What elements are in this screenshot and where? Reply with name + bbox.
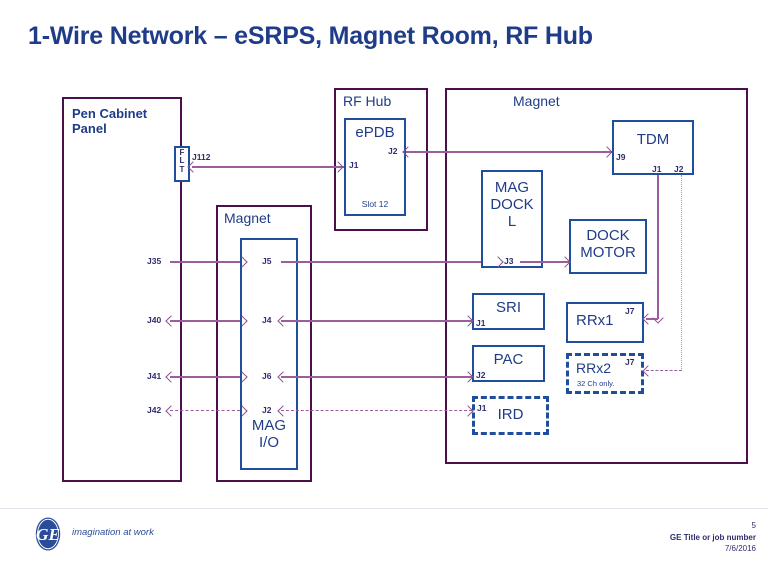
wire-magio-j2-to-ird-j1 — [281, 410, 472, 411]
mag-dock-l-title-line2: DOCK — [490, 196, 533, 213]
wire-j42-to-magio-j2 — [170, 410, 240, 411]
port-label-tdm-j1: J1 — [652, 164, 661, 174]
wire-j35-to-magio-j5 — [170, 261, 240, 263]
sri-title: SRI — [474, 300, 543, 317]
port-label-sri-j1: J1 — [476, 318, 485, 328]
port-label-magio-j6: J6 — [262, 371, 271, 381]
wire-tdm-j1-drop — [657, 175, 659, 319]
wire-magio-j4-to-sri-j1 — [281, 320, 472, 322]
port-label-magio-j5: J5 — [262, 256, 271, 266]
mag-dock-l-title-line3: L — [508, 213, 516, 230]
page-title: 1-Wire Network – eSRPS, Magnet Room, RF … — [28, 22, 593, 51]
port-label-j41: J41 — [147, 371, 161, 381]
wire-magio-j5-to-magdockl-j3 — [281, 261, 481, 263]
mag-io-title: MAG I/O — [242, 418, 296, 452]
port-label-epdb-j1: J1 — [349, 160, 358, 170]
svg-text:GE: GE — [36, 525, 60, 544]
rrx2-note: 32 Ch only. — [569, 379, 649, 388]
port-label-magio-j4: J4 — [262, 315, 271, 325]
magnet-right-label: Magnet — [513, 93, 560, 109]
pen-cabinet-panel-label-line2: Panel — [72, 121, 107, 136]
rrx2-title: RRx2 — [569, 361, 648, 377]
mag-io-title-line2: I/O — [259, 434, 279, 451]
flt-connector[interactable]: F L T — [174, 146, 190, 182]
footer-job-title: GE Title or job number — [670, 533, 756, 542]
footer-page-number: 5 — [752, 521, 756, 530]
dock-motor-title: DOCK MOTOR — [571, 228, 645, 262]
wire-magio-j6-to-pac-j2 — [281, 376, 472, 378]
port-label-j42: J42 — [147, 405, 161, 415]
port-label-rrx2-j7: J7 — [625, 357, 634, 367]
wire-j41-to-magio-j6 — [170, 376, 240, 378]
mag-dock-l-title: MAG DOCK L — [483, 180, 541, 230]
dock-motor-box[interactable]: DOCK MOTOR — [569, 219, 647, 274]
flt-line-3: T — [180, 165, 185, 174]
port-label-j40: J40 — [147, 315, 161, 325]
wire-j112-to-epdb-j1 — [192, 166, 344, 168]
port-label-ird-j1: J1 — [477, 403, 486, 413]
epdb-slot-label: Slot 12 — [346, 199, 404, 209]
pac-title: PAC — [474, 352, 543, 369]
footer-date: 7/6/2016 — [725, 544, 756, 553]
port-label-j112: J112 — [192, 152, 210, 162]
port-label-j35: J35 — [147, 256, 161, 266]
wire-tdm-j2-drop — [681, 175, 682, 371]
mag-dock-l-title-line1: MAG — [495, 179, 529, 196]
ge-tagline: imagination at work — [72, 527, 154, 538]
pen-cabinet-panel-label: Pen Cabinet Panel — [72, 107, 177, 137]
port-label-epdb-j2: J2 — [388, 146, 397, 156]
rf-hub-label: RF Hub — [343, 93, 391, 109]
ird-box[interactable]: IRD — [472, 396, 549, 435]
mag-io-title-line1: MAG — [252, 417, 286, 434]
mag-io-box[interactable]: MAG I/O — [240, 238, 298, 470]
footer-divider — [0, 508, 768, 509]
epdb-title: ePDB — [346, 125, 404, 142]
port-label-tdm-j2: J2 — [674, 164, 683, 174]
dock-motor-title-line1: DOCK — [586, 227, 629, 244]
magnet-left-label: Magnet — [224, 210, 271, 226]
ge-logo: GE — [30, 516, 66, 552]
mag-dock-l-box[interactable]: MAG DOCK L — [481, 170, 543, 268]
dock-motor-title-line2: MOTOR — [580, 244, 636, 261]
pen-cabinet-panel-room — [62, 97, 182, 482]
port-label-pac-j2: J2 — [476, 370, 485, 380]
port-label-rrx1-j7: J7 — [625, 306, 634, 316]
pen-cabinet-panel-label-line1: Pen Cabinet — [72, 106, 147, 121]
port-label-tdm-j9: J9 — [616, 152, 625, 162]
port-label-magdockl-j3: J3 — [504, 256, 513, 266]
port-label-magio-j2: J2 — [262, 405, 271, 415]
wire-j40-to-magio-j4 — [170, 320, 240, 322]
tdm-title: TDM — [614, 132, 692, 149]
rrx1-title: RRx1 — [568, 313, 650, 330]
wire-epdb-j2-to-tdm-j9 — [406, 151, 612, 153]
